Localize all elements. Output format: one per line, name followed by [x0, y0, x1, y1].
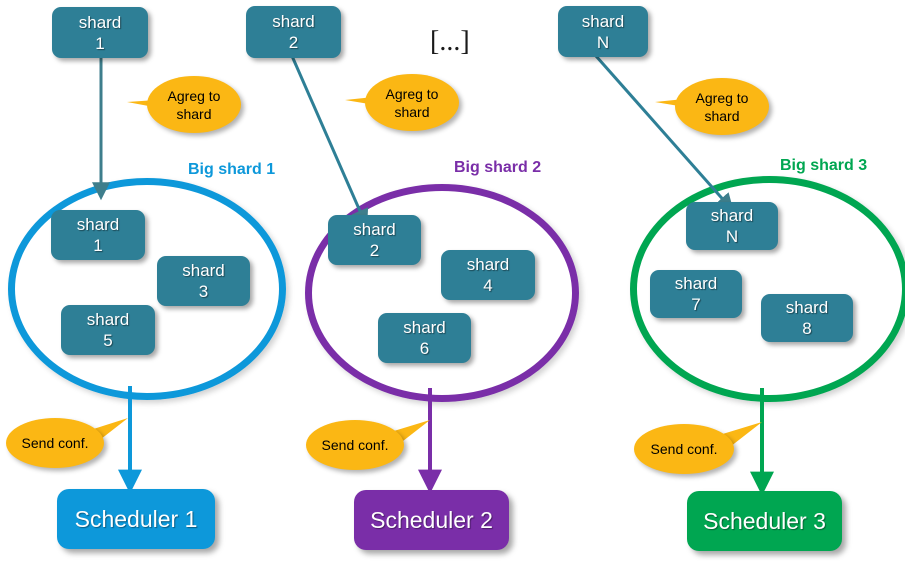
shard-index: 2 — [370, 240, 379, 261]
send-conf-callout-1[interactable]: Send conf. — [6, 412, 136, 472]
shard-word: shard — [272, 11, 315, 32]
callout-line-1: Agreg to — [168, 87, 221, 105]
group2-shard-box-2[interactable]: shard 2 — [328, 215, 421, 265]
callout-line-1: Agreg to — [386, 85, 439, 103]
agreg-callout-1[interactable]: Agreg to shard — [125, 76, 245, 136]
top-shard-box-2[interactable]: shard 2 — [246, 6, 341, 58]
send-conf-bubble: Send conf. — [6, 418, 104, 468]
shard-index: N — [597, 32, 609, 53]
shard-index: 3 — [199, 281, 208, 302]
scheduler-label: Scheduler 2 — [370, 507, 493, 534]
group1-shard-box-5[interactable]: shard 5 — [61, 305, 155, 355]
group-label-3: Big shard 3 — [780, 157, 867, 175]
diagram-canvas: shard 1 shard 2 shard N [...] Agreg to s… — [0, 0, 905, 561]
shard-word: shard — [77, 214, 120, 235]
shard-word: shard — [467, 254, 510, 275]
shard-word: shard — [711, 205, 754, 226]
agreg-callout-2[interactable]: Agreg to shard — [345, 74, 465, 134]
scheduler-box-3[interactable]: Scheduler 3 — [687, 491, 842, 551]
send-conf-bubble: Send conf. — [634, 424, 734, 474]
group3-shard-box-N[interactable]: shard N — [686, 202, 778, 250]
shard-index: N — [726, 226, 738, 247]
agreg-callout-bubble: Agreg to shard — [365, 74, 459, 131]
group3-shard-box-7[interactable]: shard 7 — [650, 270, 742, 318]
agreg-callout-bubble: Agreg to shard — [147, 76, 241, 133]
shard-index: 8 — [802, 318, 811, 339]
group1-shard-box-1[interactable]: shard 1 — [51, 210, 145, 260]
shard-word: shard — [182, 260, 225, 281]
callout-line-1: Send conf. — [322, 436, 389, 454]
shard-index: 2 — [289, 32, 298, 53]
scheduler-box-2[interactable]: Scheduler 2 — [354, 490, 509, 550]
shard-index: 7 — [691, 294, 700, 315]
shard-index: 5 — [103, 330, 112, 351]
group2-shard-box-6[interactable]: shard 6 — [378, 313, 471, 363]
shard-index: 1 — [93, 235, 102, 256]
scheduler-box-1[interactable]: Scheduler 1 — [57, 489, 215, 549]
shard-word: shard — [87, 309, 130, 330]
scheduler-label: Scheduler 1 — [75, 506, 198, 533]
group2-shard-box-4[interactable]: shard 4 — [441, 250, 535, 300]
ellipsis-marker: [...] — [430, 26, 470, 58]
group-label-2: Big shard 2 — [454, 159, 541, 177]
group3-shard-box-8[interactable]: shard 8 — [761, 294, 853, 342]
shard-index: 4 — [483, 275, 492, 296]
scheduler-label: Scheduler 3 — [703, 508, 826, 535]
send-conf-bubble: Send conf. — [306, 420, 404, 470]
shard-word: shard — [582, 11, 625, 32]
callout-line-2: shard — [394, 103, 429, 121]
send-conf-callout-3[interactable]: Send conf. — [634, 420, 774, 480]
group-label-1: Big shard 1 — [188, 161, 275, 179]
top-shard-box-N[interactable]: shard N — [558, 6, 648, 57]
callout-line-2: shard — [176, 105, 211, 123]
shard-word: shard — [403, 317, 446, 338]
callout-line-1: Send conf. — [651, 440, 718, 458]
agreg-callout-bubble: Agreg to shard — [675, 78, 769, 135]
callout-line-1: Send conf. — [22, 434, 89, 452]
shard-word: shard — [79, 12, 122, 33]
group1-shard-box-3[interactable]: shard 3 — [157, 256, 250, 306]
shard-word: shard — [675, 273, 718, 294]
top-shard-box-1[interactable]: shard 1 — [52, 7, 148, 58]
shard-index: 1 — [95, 33, 104, 54]
send-conf-callout-2[interactable]: Send conf. — [306, 416, 436, 476]
callout-line-2: shard — [704, 107, 739, 125]
shard-index: 6 — [420, 338, 429, 359]
shard-word: shard — [353, 219, 396, 240]
shard-word: shard — [786, 297, 829, 318]
agreg-callout-3[interactable]: Agreg to shard — [655, 78, 775, 138]
callout-line-1: Agreg to — [696, 89, 749, 107]
